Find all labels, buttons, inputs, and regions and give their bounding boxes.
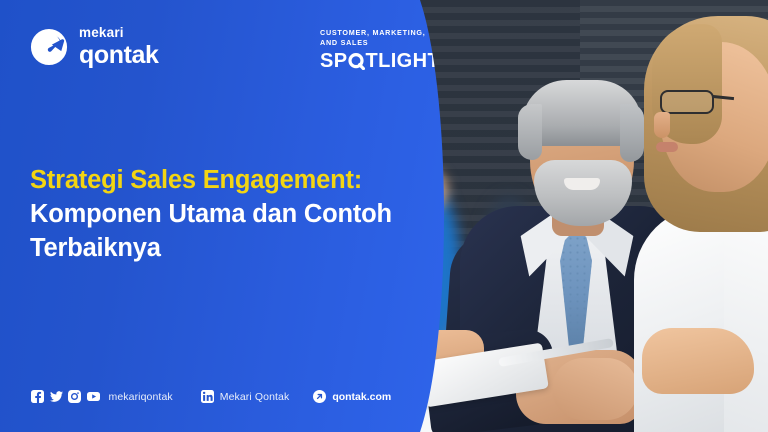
woman-nose xyxy=(654,112,670,138)
woman-eyeglasses xyxy=(660,90,714,114)
linkedin-icon[interactable] xyxy=(201,390,214,403)
blue-content-panel: mekari qontak CUSTOMER, MARKETING, AND S… xyxy=(0,0,470,432)
man-hair-side-left xyxy=(518,104,542,160)
headline-line-1: Strategi Sales Engagement: xyxy=(30,163,422,197)
external-link-circle-icon[interactable] xyxy=(313,390,326,403)
badge-word-before: SP xyxy=(320,50,347,73)
website-label: qontak.com xyxy=(332,391,391,403)
website-group[interactable]: qontak.com xyxy=(313,390,391,403)
twitter-icon[interactable] xyxy=(50,390,63,403)
footer-social-bar: mekariqontak Mekari Qontak xyxy=(31,390,391,403)
social-icon-row xyxy=(31,390,100,403)
headline-line-2: Komponen Utama dan Contoh xyxy=(30,197,422,231)
headline-line-3: Terbaiknya xyxy=(30,231,422,265)
social-handle-group[interactable]: mekariqontak xyxy=(31,390,173,403)
man-smile xyxy=(564,178,600,190)
page-title: Strategi Sales Engagement: Komponen Utam… xyxy=(30,163,422,265)
banner-canvas: $ ✦ ✦ ✦ xyxy=(0,0,768,432)
instagram-icon[interactable] xyxy=(68,390,81,403)
woman-hand xyxy=(642,328,754,394)
linkedin-group[interactable]: Mekari Qontak xyxy=(201,390,290,403)
businesswoman-in-white-blazer xyxy=(616,16,768,432)
badge-kicker-line2: AND SALES xyxy=(320,38,440,48)
social-handle-label: mekariqontak xyxy=(109,391,173,403)
linkedin-name-label: Mekari Qontak xyxy=(220,391,290,403)
logo-name-top: mekari xyxy=(79,26,159,40)
badge-word: SP TLIGHT xyxy=(320,50,440,73)
logo-name-bottom: qontak xyxy=(79,43,159,68)
badge-kicker-line1: CUSTOMER, MARKETING, xyxy=(320,28,440,38)
badge-word-after: TLIGHT xyxy=(365,50,440,73)
magnifier-lens-o-icon xyxy=(348,53,365,70)
brand-logo[interactable]: mekari qontak xyxy=(30,26,159,68)
qontak-q-mark-icon xyxy=(30,28,68,66)
youtube-icon[interactable] xyxy=(87,390,100,403)
woman-lips xyxy=(656,142,678,152)
facebook-icon[interactable] xyxy=(31,390,44,403)
spotlight-badge: CUSTOMER, MARKETING, AND SALES SP TLIGHT xyxy=(320,28,440,73)
